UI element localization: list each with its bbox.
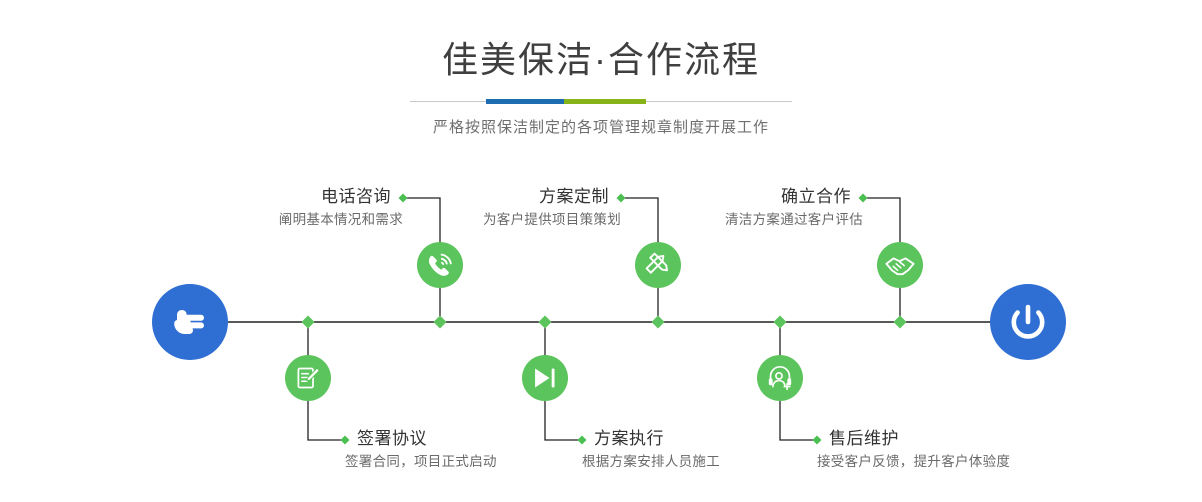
step-node-bottom-3[interactable] bbox=[757, 355, 803, 401]
step-title: 确立合作 bbox=[663, 185, 863, 209]
step-node-bottom-2[interactable] bbox=[522, 355, 568, 401]
step-circle bbox=[417, 242, 463, 288]
step-node-top-2[interactable] bbox=[635, 242, 681, 288]
spine-diamond-1 bbox=[302, 316, 315, 329]
process-flow-infographic: 佳美保洁·合作流程 严格按照保洁制定的各项管理规章制度开展工作 bbox=[0, 0, 1202, 502]
end-endpoint-node[interactable] bbox=[990, 284, 1066, 360]
step-label-top-1: 电话咨询 阐明基本情况和需求 bbox=[203, 185, 403, 231]
step-title: 方案定制 bbox=[421, 185, 621, 209]
step-desc: 根据方案安排人员施工 bbox=[582, 451, 842, 473]
step-title: 电话咨询 bbox=[203, 185, 403, 209]
step-desc: 为客户提供项目策策划 bbox=[421, 209, 621, 231]
step-node-top-1[interactable] bbox=[417, 242, 463, 288]
step-desc: 清洁方案通过客户评估 bbox=[663, 209, 863, 231]
step-title: 方案执行 bbox=[582, 427, 842, 451]
step-circle bbox=[877, 242, 923, 288]
start-endpoint-node[interactable] bbox=[152, 284, 228, 360]
step-label-bottom-3: 售后维护 接受客户反馈，提升客户体验度 bbox=[817, 427, 1117, 473]
step-node-bottom-1[interactable] bbox=[285, 355, 331, 401]
label-diamond-markers bbox=[341, 194, 868, 445]
step-title: 签署协议 bbox=[345, 427, 605, 451]
spine-diamond-4 bbox=[652, 316, 665, 329]
step-label-top-2: 方案定制 为客户提供项目策策划 bbox=[421, 185, 621, 231]
step-desc: 接受客户反馈，提升客户体验度 bbox=[817, 451, 1117, 473]
step-desc: 签署合同，项目正式启动 bbox=[345, 451, 605, 473]
step-label-bottom-2: 方案执行 根据方案安排人员施工 bbox=[582, 427, 842, 473]
spine-diamond-5 bbox=[774, 316, 787, 329]
step-label-bottom-1: 签署协议 签署合同，项目正式启动 bbox=[345, 427, 605, 473]
step-desc: 阐明基本情况和需求 bbox=[203, 209, 403, 231]
spine-diamond-2 bbox=[434, 316, 447, 329]
spine-diamond-6 bbox=[894, 316, 907, 329]
flow-diagram: 电话咨询 阐明基本情况和需求 方案定制 为客户提供项目策策划 确立合作 清洁方案… bbox=[0, 0, 1202, 502]
step-node-top-3[interactable] bbox=[877, 242, 923, 288]
step-title: 售后维护 bbox=[817, 427, 1117, 451]
spine-diamond-3 bbox=[539, 316, 552, 329]
step-label-top-3: 确立合作 清洁方案通过客户评估 bbox=[663, 185, 863, 231]
